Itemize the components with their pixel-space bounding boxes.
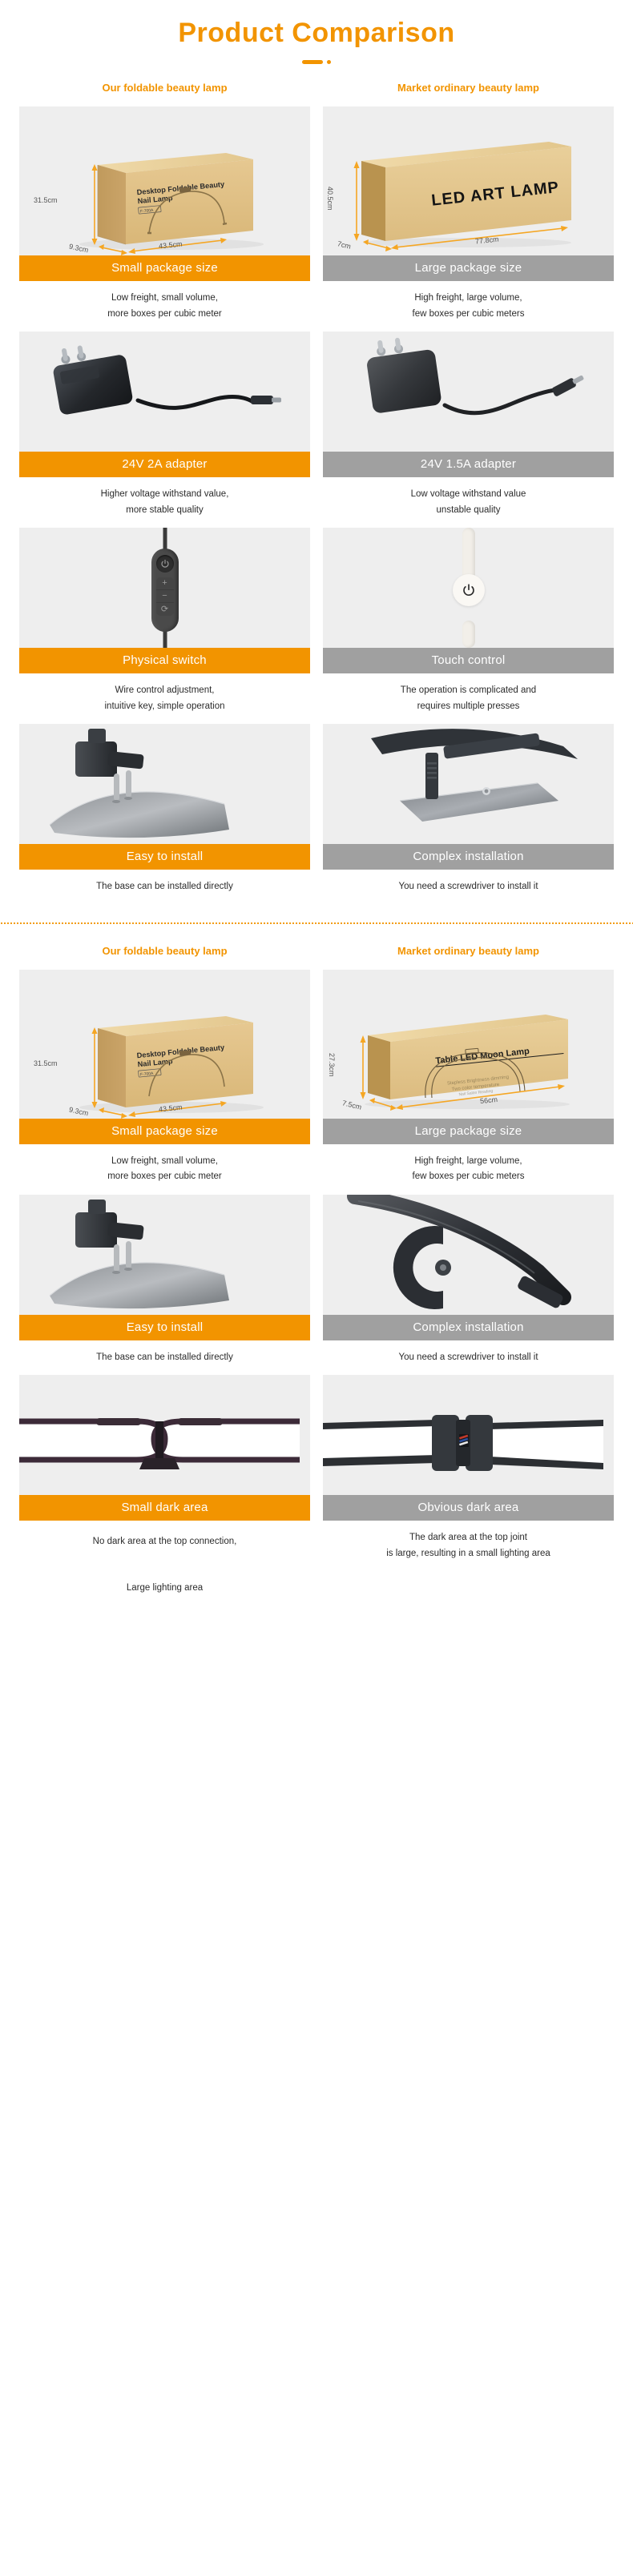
joint-slim-icon: [19, 1375, 310, 1495]
label-adapter-2a: 24V 2A adapter: [19, 452, 310, 477]
divider-bar: [302, 60, 323, 64]
column-headers-2: Our foldable beauty lamp Market ordinary…: [0, 945, 633, 960]
label-complex-install: Complex installation: [323, 844, 614, 870]
switch-key-group[interactable]: + − ⟳: [156, 577, 174, 616]
cell-good-package-2: Desktop Foldable Beauty Nail Lamp F-700A: [19, 970, 310, 1185]
thumb-carton-large: LED ART LAMP: [323, 106, 614, 255]
dim-width-label: 56cm: [480, 1095, 498, 1105]
caption-complex-install-2: You need a screwdriver to install it: [323, 1340, 614, 1366]
dim-height-label: 31.5cm: [34, 1059, 58, 1067]
comparison-row-install-2: Easy to install The base can be installe…: [0, 1185, 633, 1366]
minus-button[interactable]: −: [156, 590, 174, 603]
caption-adapter-15a: Low voltage withstand value unstable qua…: [323, 477, 614, 518]
cell-good-darkarea: Small dark area No dark area at the top …: [19, 1375, 310, 1599]
column-header-good: Our foldable beauty lamp: [19, 945, 310, 960]
joint-bulky-icon: [323, 1375, 614, 1495]
thumb-base-simple-2: [19, 1195, 310, 1315]
carton-small-icon: Desktop Foldable Beauty Nail Lamp F-700A: [19, 106, 310, 255]
thumb-arc-bracket: [323, 1195, 614, 1315]
plus-button[interactable]: +: [156, 577, 174, 590]
dim-height-label: 27.3cm: [328, 1053, 336, 1077]
title-block: Product Comparison: [0, 0, 633, 64]
product-comparison-page: Product Comparison Our foldable beauty l…: [0, 0, 633, 1632]
thumb-carton-small: Desktop Foldable Beauty Nail Lamp F-700A: [19, 106, 310, 255]
cycle-button[interactable]: ⟳: [156, 603, 174, 616]
label-touch-control: Touch control: [323, 648, 614, 673]
label-easy-install: Easy to install: [19, 844, 310, 870]
cell-good-adapter: 24V 2A adapter Higher voltage withstand …: [19, 332, 310, 518]
column-header-bad: Market ordinary beauty lamp: [323, 82, 614, 97]
cell-bad-darkarea: Obvious dark area The dark area at the t…: [323, 1375, 614, 1599]
label-easy-install-2: Easy to install: [19, 1315, 310, 1340]
thumb-joint-slim: [19, 1375, 310, 1495]
caption-touch-control: The operation is complicated and require…: [323, 673, 614, 714]
thumb-adapter-gray: [323, 332, 614, 452]
carton-moon-icon: Table LED Moon Lamp Stepless Brightness …: [323, 970, 614, 1119]
page-title: Product Comparison: [0, 18, 633, 49]
caption-small-package: Low freight, small volume, more boxes pe…: [19, 281, 310, 322]
cell-bad-install-2: Complex installation You need a screwdri…: [323, 1195, 614, 1366]
label-complex-install-2: Complex installation: [323, 1315, 614, 1340]
column-headers-1: Our foldable beauty lamp Market ordinary…: [0, 82, 633, 97]
switch-body: + − ⟳: [151, 549, 179, 632]
cell-bad-package: LED ART LAMP: [323, 106, 614, 322]
cell-good-package: Desktop Foldable Beauty Nail Lamp F-700A: [19, 106, 310, 322]
label-large-package: Large package size: [323, 255, 614, 281]
label-small-package: Small package size: [19, 255, 310, 281]
caption-easy-install-2: The base can be installed directly: [19, 1340, 310, 1366]
caption-large-package: High freight, large volume, few boxes pe…: [323, 281, 614, 322]
caption-complex-install: You need a screwdriver to install it: [323, 870, 614, 895]
label-small-package-2: Small package size: [19, 1119, 310, 1144]
column-header-bad: Market ordinary beauty lamp: [323, 945, 614, 960]
comparison-section-1: Our foldable beauty lamp Market ordinary…: [0, 64, 633, 924]
thumb-adapter-black: [19, 332, 310, 452]
thumb-carton-moon: Table LED Moon Lamp Stepless Brightness …: [323, 970, 614, 1119]
cell-bad-control: Touch control The operation is complicat…: [323, 528, 614, 714]
cell-bad-install: Complex installation You need a screwdri…: [323, 724, 614, 895]
caption-obvious-dark-area: The dark area at the top joint is large,…: [323, 1521, 614, 1561]
label-small-dark-area: Small dark area: [19, 1495, 310, 1521]
base-plate-screws-icon: [323, 724, 614, 844]
carton-large-icon: LED ART LAMP: [323, 106, 614, 255]
adapter-black-icon: [19, 332, 310, 452]
dim-height-label: 40.5cm: [326, 187, 334, 211]
column-header-good: Our foldable beauty lamp: [19, 82, 310, 97]
arc-bracket-icon: [323, 1195, 614, 1315]
caption-large-package-2: High freight, large volume, few boxes pe…: [323, 1144, 614, 1185]
base-plate-simple-icon: [19, 1195, 310, 1315]
comparison-row-package-2: Desktop Foldable Beauty Nail Lamp F-700A: [0, 960, 633, 1185]
cell-good-install: Easy to install The base can be installe…: [19, 724, 310, 895]
base-plate-simple-icon: [19, 724, 310, 844]
cell-bad-package-2: Table LED Moon Lamp Stepless Brightness …: [323, 970, 614, 1185]
label-large-package-2: Large package size: [323, 1119, 614, 1144]
comparison-row-control: + − ⟳ Physical switch Wire control adjus…: [0, 518, 633, 714]
caption-small-package-2: Low freight, small volume, more boxes pe…: [19, 1144, 310, 1185]
caption-small-dark-area: No dark area at the top connection, Larg…: [19, 1521, 310, 1599]
thumb-joint-bulky: [323, 1375, 614, 1495]
divider-dot: [327, 60, 331, 64]
caption-physical-switch: Wire control adjustment, intuitive key, …: [19, 673, 310, 714]
section-separator: [0, 922, 633, 924]
thumb-inline-switch: + − ⟳: [19, 528, 310, 648]
comparison-row-package: Desktop Foldable Beauty Nail Lamp F-700A: [0, 97, 633, 322]
dim-height-label: 31.5cm: [34, 196, 58, 204]
thumb-touch-control: [323, 528, 614, 648]
cell-bad-adapter: 24V 1.5A adapter Low voltage withstand v…: [323, 332, 614, 518]
label-obvious-dark-area: Obvious dark area: [323, 1495, 614, 1521]
thumb-carton-small-2: Desktop Foldable Beauty Nail Lamp F-700A: [19, 970, 310, 1119]
adapter-gray-icon: [323, 332, 614, 452]
label-physical-switch: Physical switch: [19, 648, 310, 673]
cell-good-install-2: Easy to install The base can be installe…: [19, 1195, 310, 1366]
power-button-icon[interactable]: [156, 555, 174, 573]
comparison-section-2: Our foldable beauty lamp Market ordinary…: [0, 927, 633, 1600]
cell-good-control: + − ⟳ Physical switch Wire control adjus…: [19, 528, 310, 714]
comparison-row-darkarea: Small dark area No dark area at the top …: [0, 1365, 633, 1599]
touch-rod-lower: [462, 621, 475, 648]
thumb-base-screws: [323, 724, 614, 844]
caption-adapter-2a: Higher voltage withstand value, more sta…: [19, 477, 310, 518]
thumb-base-simple: [19, 724, 310, 844]
comparison-row-install: Easy to install The base can be installe…: [0, 714, 633, 895]
touch-power-icon[interactable]: [453, 574, 485, 606]
carton-small-icon: Desktop Foldable Beauty Nail Lamp F-700A: [19, 970, 310, 1119]
caption-easy-install: The base can be installed directly: [19, 870, 310, 895]
comparison-row-adapter: 24V 2A adapter Higher voltage withstand …: [0, 322, 633, 518]
label-adapter-15a: 24V 1.5A adapter: [323, 452, 614, 477]
